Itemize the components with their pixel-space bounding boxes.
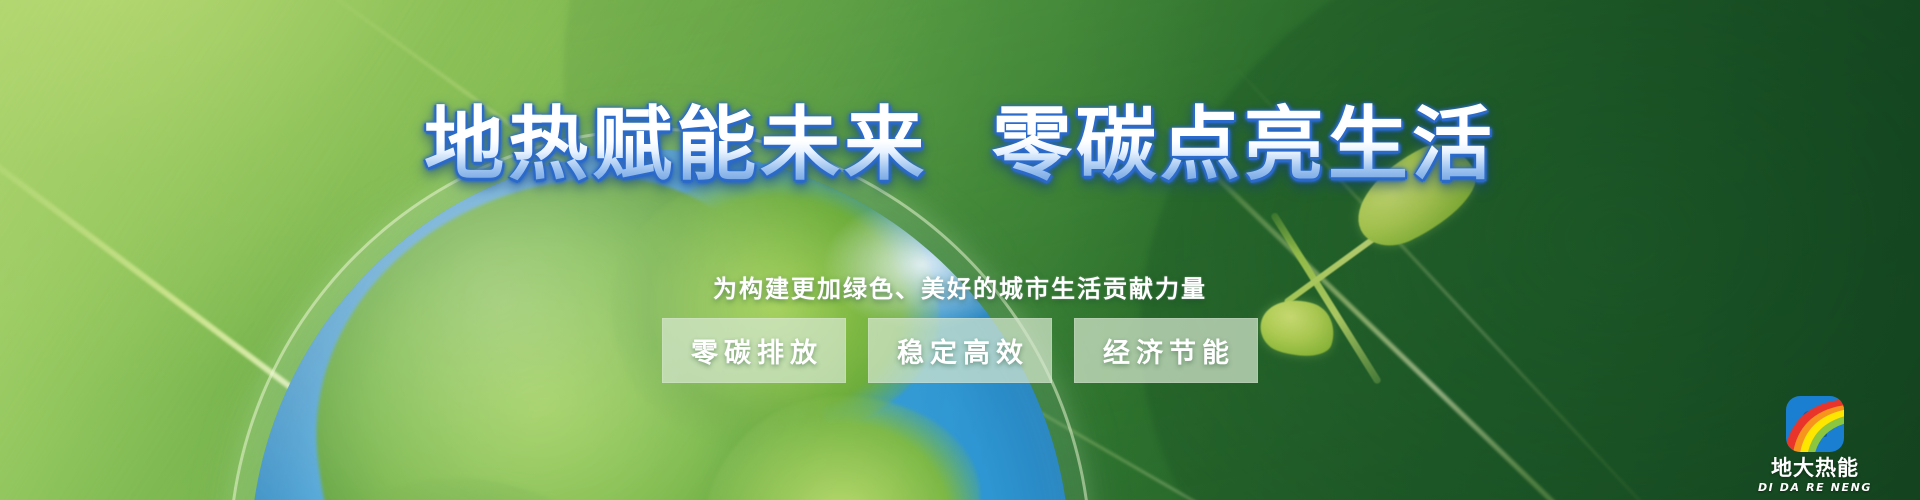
logo-name-zh: 地大热能	[1752, 457, 1878, 479]
logo-name-en: DI DA RE NENG	[1752, 481, 1878, 494]
feature-tag-economical[interactable]: 经济节能	[1074, 318, 1258, 383]
feature-tag-list: 零碳排放 稳定高效 经济节能	[0, 318, 1920, 383]
company-logo[interactable]: 地大热能 DI DA RE NENG	[1752, 396, 1878, 494]
banner-subtitle: 为构建更加绿色、美好的城市生活贡献力量	[0, 269, 1920, 304]
feature-tag-zero-carbon[interactable]: 零碳排放	[662, 318, 846, 383]
feature-tag-stable-efficient[interactable]: 稳定高效	[868, 318, 1052, 383]
promotional-banner: 地热赋能未来 零碳点亮生活 为构建更加绿色、美好的城市生活贡献力量 零碳排放 稳…	[0, 0, 1920, 500]
banner-title: 地热赋能未来 零碳点亮生活	[0, 100, 1920, 190]
didareneng-logo-icon	[1786, 396, 1844, 452]
rainbow-arc-icon	[1786, 400, 1844, 452]
banner-content: 地热赋能未来 零碳点亮生活 为构建更加绿色、美好的城市生活贡献力量 零碳排放 稳…	[0, 0, 1920, 500]
